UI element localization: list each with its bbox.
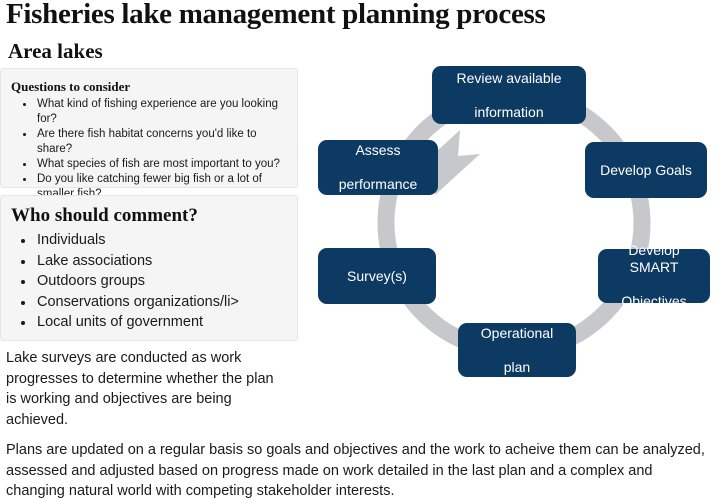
cycle-step-opplan-line2: plan xyxy=(481,359,553,376)
cycle-step-assess-line1: Assess xyxy=(339,142,418,159)
cycle-step-review[interactable]: Review available information xyxy=(432,66,586,124)
cycle-step-goals-label: Develop Goals xyxy=(600,162,692,179)
cycle-step-surveys-label: Survey(s) xyxy=(347,268,407,285)
section-title: Area lakes xyxy=(8,39,103,64)
list-item: Local units of government xyxy=(35,312,287,333)
cycle-step-assess-performance[interactable]: Assess performance xyxy=(318,140,438,195)
list-item: What kind of fishing experience are you … xyxy=(35,97,287,127)
page-title: Fisheries lake management planning proce… xyxy=(6,0,546,31)
planning-cycle-diagram: Review available information Develop Goa… xyxy=(308,52,720,404)
list-item: Outdoors groups xyxy=(35,271,287,292)
cycle-step-review-line2: information xyxy=(456,104,561,121)
list-item: Conservations organizations/li> xyxy=(35,292,287,313)
plans-paragraph: Plans are updated on a regular basis so … xyxy=(6,440,712,500)
who-should-comment-list: Individuals Lake associations Outdoors g… xyxy=(1,230,297,333)
cycle-step-smart-objectives[interactable]: Develop SMART Objectives xyxy=(598,249,710,303)
cycle-step-goals[interactable]: Develop Goals xyxy=(585,142,707,198)
surveys-paragraph: Lake surveys are conducted as work progr… xyxy=(6,348,276,430)
cycle-step-smart-line1: Develop SMART xyxy=(604,242,704,276)
cycle-step-review-line1: Review available xyxy=(456,70,561,87)
cycle-step-smart-line2: Objectives xyxy=(604,293,704,310)
questions-panel-heading: Questions to consider xyxy=(11,79,297,95)
questions-panel: Questions to consider What kind of fishi… xyxy=(0,68,298,188)
list-item: Individuals xyxy=(35,230,287,251)
page-root: Fisheries lake management planning proce… xyxy=(0,0,720,500)
who-should-comment-heading: Who should comment? xyxy=(11,205,297,227)
cycle-step-surveys[interactable]: Survey(s) xyxy=(318,248,436,304)
list-item: Lake associations xyxy=(35,251,287,272)
cycle-step-operational-plan[interactable]: Operational plan xyxy=(458,323,576,377)
list-item: What species of fish are most important … xyxy=(35,157,287,172)
cycle-step-assess-line2: performance xyxy=(339,176,418,193)
questions-list: What kind of fishing experience are you … xyxy=(1,97,297,202)
who-should-comment-panel: Who should comment? Individuals Lake ass… xyxy=(0,195,298,341)
list-item: Are there fish habitat concerns you'd li… xyxy=(35,127,287,157)
cycle-step-opplan-line1: Operational xyxy=(481,325,553,342)
